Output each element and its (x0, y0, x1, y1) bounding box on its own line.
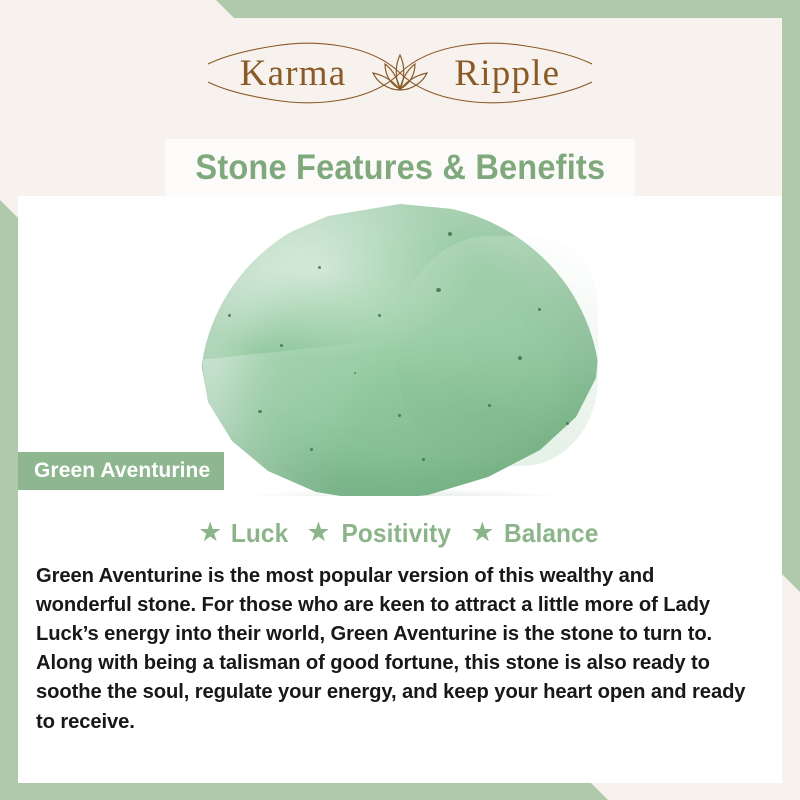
keyword-label: Balance (504, 518, 598, 549)
page-title: Stone Features & Benefits (195, 148, 605, 188)
infographic-page: Karma Ripple Stone Features & Benefits (0, 0, 800, 800)
star-icon: ★ (470, 519, 494, 546)
brand-name-left: Karma (240, 55, 347, 92)
star-icon: ★ (306, 519, 330, 546)
keyword-list: ★ Luck ★ Positivity ★ Balance (18, 518, 782, 549)
lotus-icon (368, 49, 432, 97)
stone-name-ribbon: Green Aventurine (18, 452, 224, 490)
description-card: ★ Luck ★ Positivity ★ Balance Green Aven… (18, 496, 782, 783)
frame-top-accent (0, 0, 800, 18)
keyword-item-balance: ★ Balance (470, 518, 602, 549)
keyword-item-positivity: ★ Positivity (306, 518, 454, 549)
stone-name-label: Green Aventurine (34, 459, 210, 483)
brand-name-right: Ripple (454, 55, 560, 92)
star-icon: ★ (198, 519, 222, 546)
keyword-label: Luck (231, 518, 288, 549)
keyword-label: Positivity (341, 518, 451, 549)
brand-header: Karma Ripple (0, 34, 800, 112)
frame-left-accent (0, 200, 18, 800)
description-text: Green Aventurine is the most popular ver… (36, 561, 753, 736)
frame-bottom-accent (0, 782, 800, 800)
stone-facet-right (398, 236, 598, 466)
keyword-item-luck: ★ Luck (198, 518, 290, 549)
section-title-band: Stone Features & Benefits (165, 139, 635, 197)
brand-lockup: Karma Ripple (190, 34, 610, 112)
